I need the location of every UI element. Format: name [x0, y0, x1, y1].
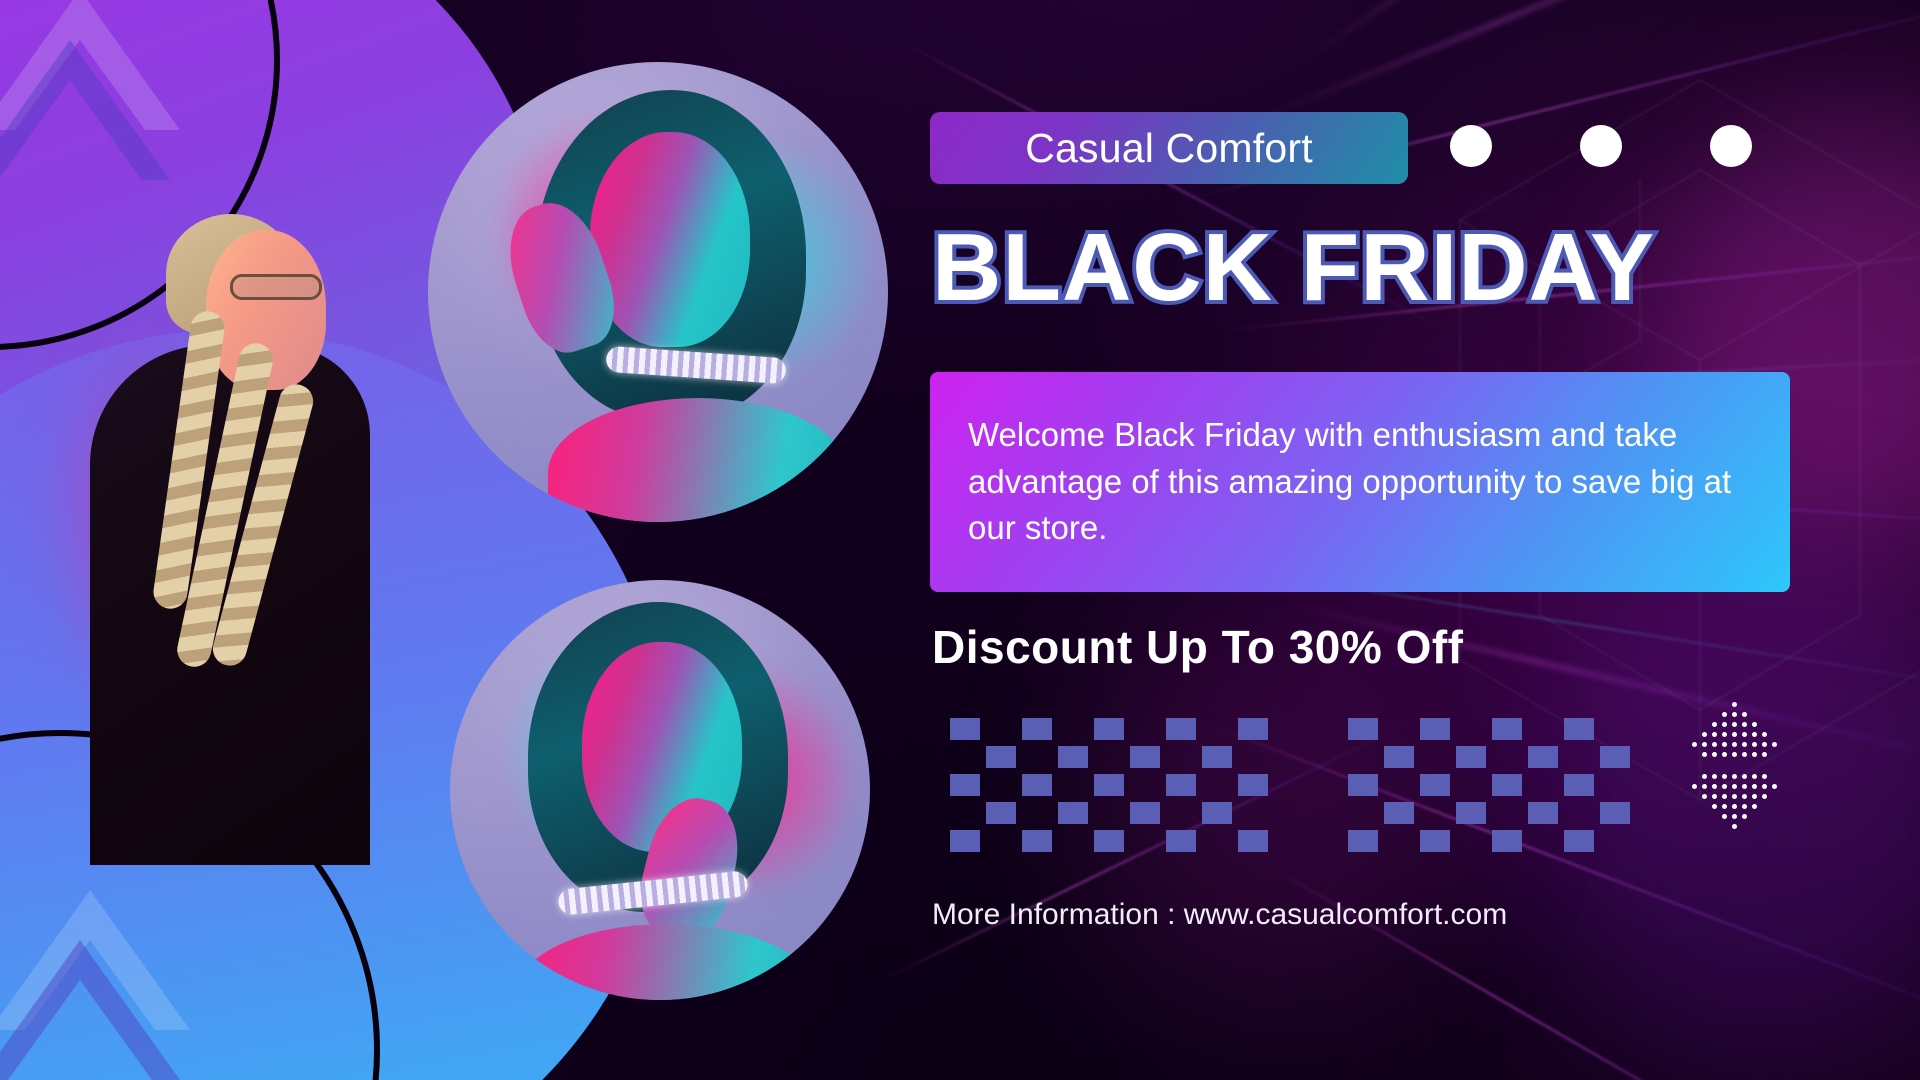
photo-model-portrait-bottom [450, 580, 870, 1000]
photo-model-hoodie [80, 190, 440, 890]
diamond-dot-ornament-icon [1690, 700, 1780, 840]
decor-dots-group [1450, 125, 1752, 167]
description-text: Welcome Black Friday with enthusiasm and… [930, 412, 1790, 553]
footer-more-information[interactable]: More Information : www.casualcomfort.com [932, 898, 1507, 932]
brand-badge-label: Casual Comfort [1025, 125, 1313, 172]
content-column: Casual Comfort BLACK FRIDAY Welcome Blac… [930, 0, 1750, 1080]
decor-dot-3 [1710, 125, 1752, 167]
checkerboard-group-1 [950, 718, 1304, 852]
decor-dot-2 [1580, 125, 1622, 167]
decor-dot-1 [1450, 125, 1492, 167]
photo-model-portrait-top [428, 62, 888, 522]
black-friday-promo-banner: Casual Comfort BLACK FRIDAY Welcome Blac… [0, 0, 1920, 1080]
brand-badge[interactable]: Casual Comfort [930, 112, 1408, 184]
discount-headline: Discount Up To 30% Off [932, 620, 1464, 674]
page-title: BLACK FRIDAY [932, 220, 1772, 316]
description-panel: Welcome Black Friday with enthusiasm and… [930, 372, 1790, 592]
checkerboard-decor [950, 718, 1630, 852]
checkerboard-group-2 [1348, 718, 1630, 852]
